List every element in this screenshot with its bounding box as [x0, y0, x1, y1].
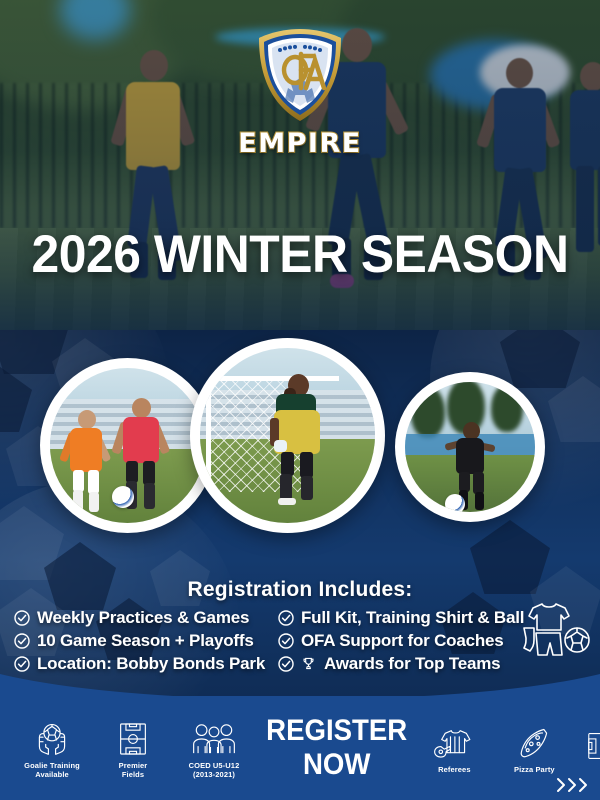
page-title: 2026 WINTER SEASON: [18, 228, 582, 281]
ofa-shield-icon: [254, 26, 346, 124]
feature-goalie-training: Goalie Training Available: [6, 717, 98, 780]
list-item-label: Location: Bobby Bonds Park: [37, 654, 265, 674]
list-item: Full Kit, Training Shirt & Ball: [278, 608, 528, 628]
registration-panel: Registration Includes: Weekly Practices …: [0, 578, 600, 674]
soccer-ball: [445, 494, 465, 512]
list-item: 10 Game Season + Playoffs: [14, 631, 272, 651]
soccer-pitch-icon: [118, 717, 148, 757]
list-item-label: 10 Game Season + Playoffs: [37, 631, 254, 651]
list-item: Location: Bobby Bonds Park: [14, 654, 272, 674]
pizza-slice-icon: [516, 721, 552, 761]
feature-label: Referees: [438, 765, 471, 774]
feature-label: Goalie Training Available: [24, 761, 80, 780]
list-item-label: Weekly Practices & Games: [37, 608, 249, 628]
player-orange: [62, 410, 110, 515]
check-circle-icon: [278, 656, 294, 672]
small-pitch-icon: [587, 721, 600, 761]
feature-referees: Referees: [413, 721, 495, 774]
referee-jersey-whistle-icon: [432, 721, 476, 761]
check-circle-icon: [14, 656, 30, 672]
list-item: Awards for Top Teams: [278, 654, 528, 674]
register-now-button[interactable]: REGISTER NOW: [266, 714, 407, 782]
list-item-label: Awards for Top Teams: [324, 654, 500, 674]
list-item: Weekly Practices & Games: [14, 608, 272, 628]
photo-circle-left: [40, 358, 215, 533]
goal-post: [206, 376, 211, 492]
registration-title: Registration Includes:: [0, 578, 600, 602]
poster-root: EMPIRE 2026 WINTER SEASON: [0, 0, 600, 800]
bottom-feature-bar: Goalie Training Available Premier Fields: [0, 696, 600, 800]
feature-format-7v7: 7 v 7: [573, 721, 600, 774]
registration-list-right: Full Kit, Training Shirt & Ball OFA Supp…: [278, 608, 528, 674]
list-item-label: Full Kit, Training Shirt & Ball: [301, 608, 524, 628]
photo-circle-right: [395, 372, 545, 522]
feature-label: COED U5-U12 (2013-2021): [189, 761, 240, 780]
feature-label: Premier Fields: [119, 761, 148, 780]
players-group-icon: [191, 717, 237, 757]
feature-label: Pizza Party: [514, 765, 555, 774]
feature-premier-fields: Premier Fields: [98, 717, 168, 780]
list-item-label: OFA Support for Coaches: [301, 631, 504, 651]
list-item: OFA Support for Coaches: [278, 631, 528, 651]
feature-coed-ages: COED U5-U12 (2013-2021): [168, 717, 260, 780]
brand-logo: EMPIRE: [0, 26, 600, 159]
ball-pentagon: [500, 330, 580, 388]
check-circle-icon: [14, 610, 30, 626]
soccer-ball: [112, 486, 134, 508]
registration-list-left: Weekly Practices & Games 10 Game Season …: [14, 608, 272, 674]
empire-wordmark: EMPIRE: [238, 128, 361, 159]
goalkeeper-yellow-bib: [268, 374, 330, 506]
check-circle-icon: [278, 610, 294, 626]
goalie-gloves-icon: [32, 717, 72, 757]
kit-bundle-icon: [516, 598, 592, 664]
photo-circle-center: [190, 338, 385, 533]
chevron-right-icons: [554, 776, 594, 794]
check-circle-icon: [278, 633, 294, 649]
trophy-icon: [301, 656, 317, 672]
check-circle-icon: [14, 633, 30, 649]
feature-pizza-party: Pizza Party: [495, 721, 573, 774]
